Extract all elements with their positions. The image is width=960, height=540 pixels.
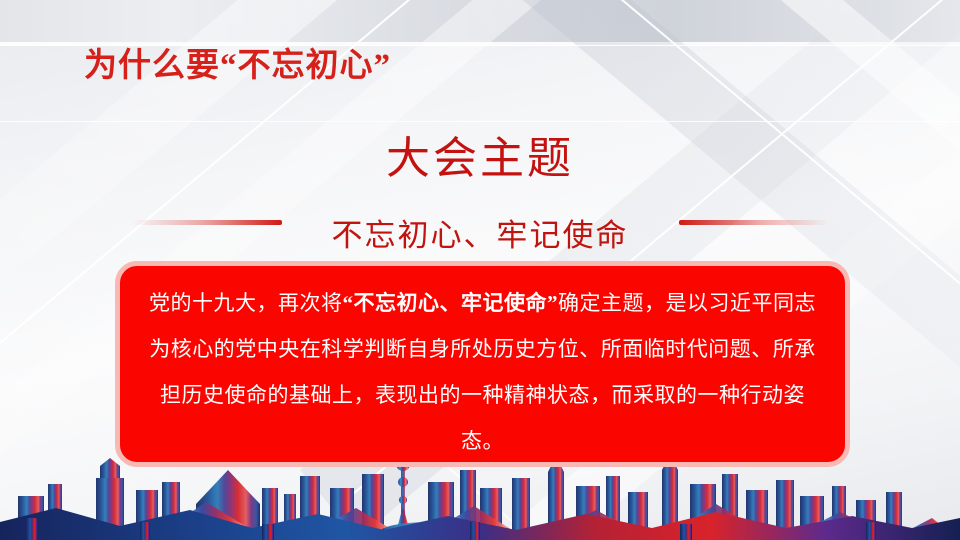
page-title: 大会主题 xyxy=(0,122,960,186)
body-text-emphasis: “不忘初心、牢记使命” xyxy=(343,291,559,315)
background-top-band xyxy=(0,0,960,42)
highlight-content-box: 党的十九大，再次将“不忘初心、牢记使命”确定主题，是以习近平同志为核心的党中央在… xyxy=(115,261,850,467)
section-kicker-title: 为什么要“不忘初心” xyxy=(84,38,391,86)
decorative-rule-left-icon xyxy=(132,220,282,225)
subtitle-text: 不忘初心、牢记使命 xyxy=(282,210,679,255)
decorative-rule-right-icon xyxy=(679,220,829,225)
presentation-slide: 为什么要“不忘初心” 大会主题 不忘初心、牢记使命 党的十九大，再次将“不忘初心… xyxy=(0,0,960,540)
subtitle-row: 不忘初心、牢记使命 xyxy=(0,200,960,245)
body-paragraph: 党的十九大，再次将“不忘初心、牢记使命”确定主题，是以习近平同志为核心的党中央在… xyxy=(146,280,819,464)
body-text-part-2: 确定主题，是以习近平同志为核心的党中央在科学判断自身所处历史方位、所面临时代问题… xyxy=(149,291,816,453)
body-text-part-1: 党的十九大，再次将 xyxy=(149,291,343,315)
